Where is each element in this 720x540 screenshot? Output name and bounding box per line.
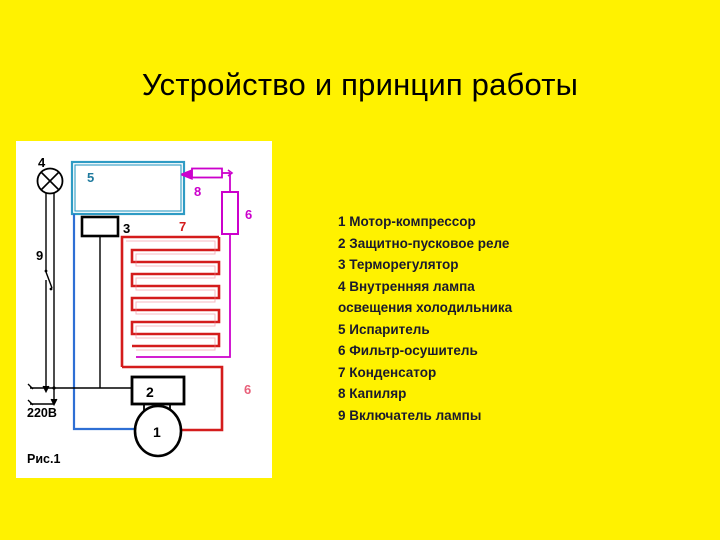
callout-1: 1 [153,424,161,440]
figure-caption: Рис.1 [27,452,60,466]
legend-item: 3 Терморегулятор [338,254,678,276]
callout-3: 3 [123,221,130,236]
callout-2: 2 [146,384,154,400]
page-title: Устройство и принцип работы [0,66,720,104]
refrigerator-schematic-panel: 4 5 3 9 8 6 7 6 2 1 220В Рис.1 [16,141,272,478]
callout-6-secondary: 6 [244,382,251,397]
legend-item: 1 Мотор-компрессор [338,211,678,233]
callout-6: 6 [245,207,252,222]
callout-7: 7 [179,219,186,234]
callout-5: 5 [87,170,94,185]
slide-canvas: Устройство и принцип работы [0,0,720,540]
callout-8: 8 [194,184,201,199]
callout-9: 9 [36,248,43,263]
legend-item: 5 Испаритель [338,319,678,341]
legend-item: 4 Внутренняя лампа [338,276,678,298]
legend-item: освещения холодильника [338,297,678,319]
legend-item: 6 Фильтр-осушитель [338,340,678,362]
refrigerator-schematic-svg: 4 5 3 9 8 6 7 6 2 1 220В Рис.1 [16,141,272,478]
thermostat-shape [82,217,118,388]
callout-4: 4 [38,155,46,170]
interior-lamp-shape [38,169,63,405]
legend-item: 9 Включатель лампы [338,405,678,427]
legend-item: 7 Конденсатор [338,362,678,384]
capillary-tube-shape [182,169,232,193]
legend-item: 2 Защитно-пусковое реле [338,233,678,255]
legend-item: 8 Капиляр [338,383,678,405]
parts-legend: 1 Мотор-компрессор 2 Защитно-пусковое ре… [338,211,678,426]
voltage-label: 220В [27,406,57,420]
